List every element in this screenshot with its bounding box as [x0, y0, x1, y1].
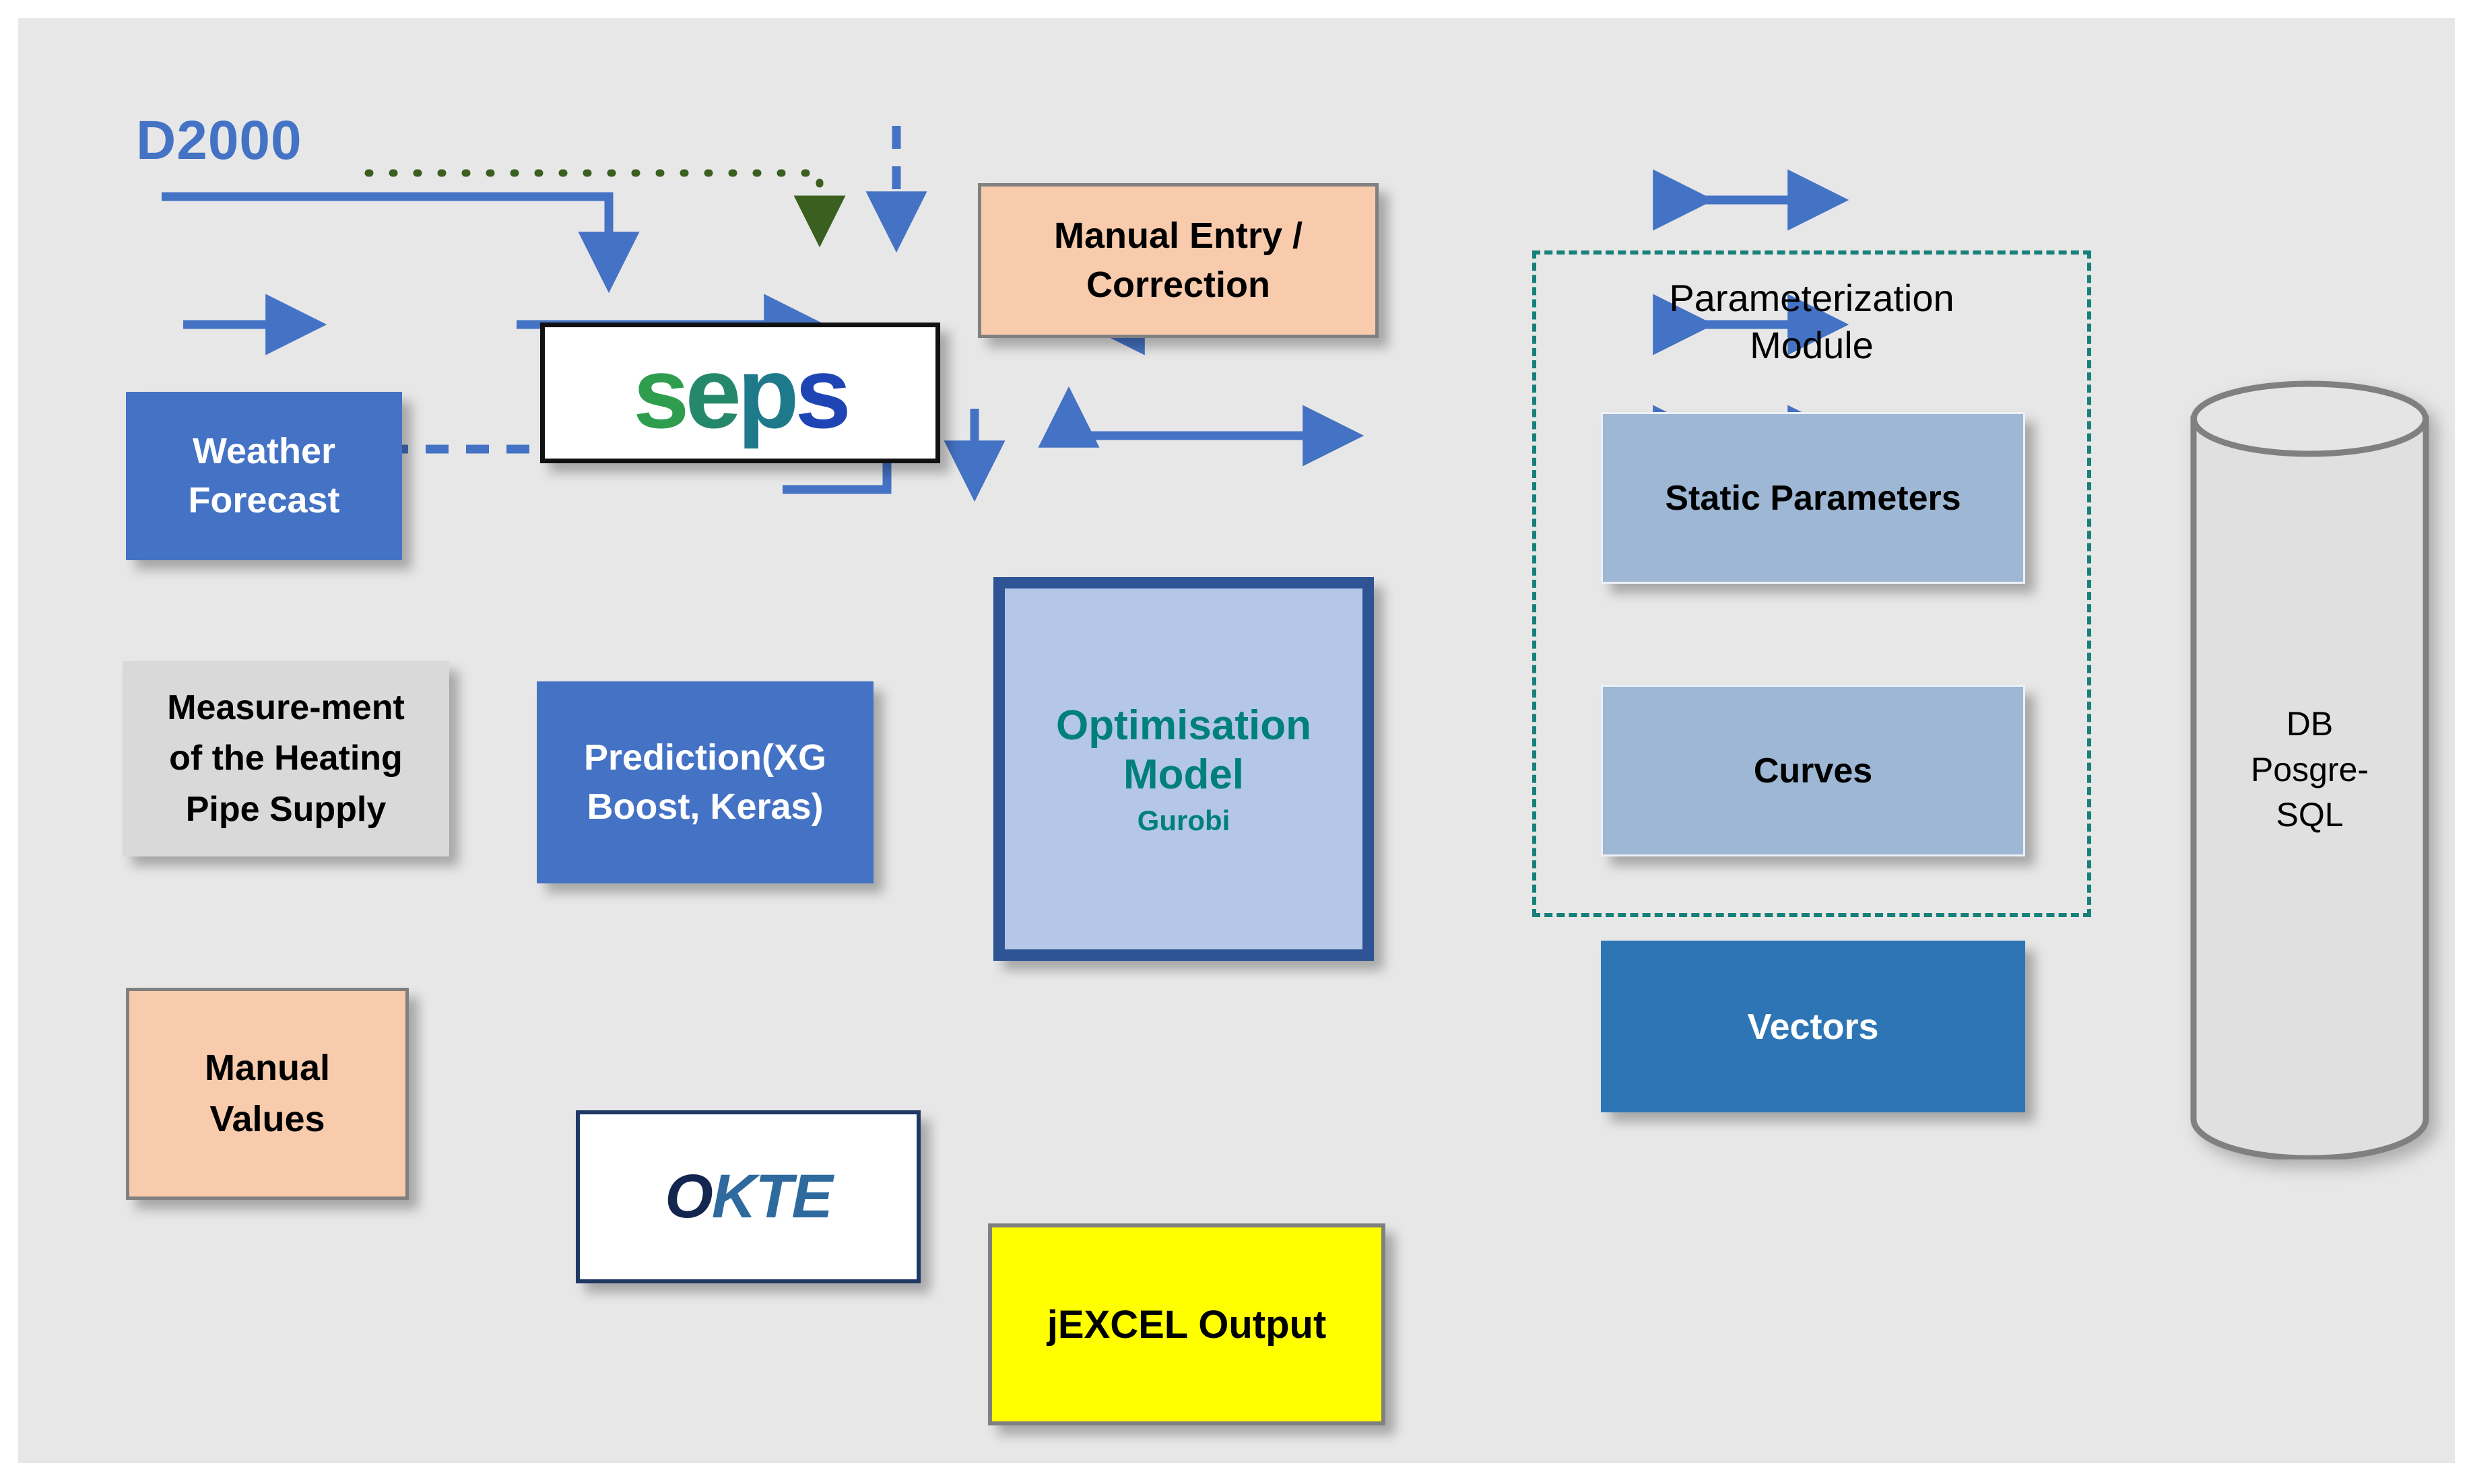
node-static-parameters-label: Static Parameters	[1665, 478, 1961, 518]
node-static-parameters[interactable]: Static Parameters	[1601, 412, 2025, 584]
node-optimisation-model-sublabel: Gurobi	[1138, 805, 1230, 837]
connector-seps-to-optimisation	[368, 173, 820, 237]
group-parameterization-module-label: Parameterization Module	[1536, 275, 2087, 369]
node-measurement-label: Measure-ment of the Heating Pipe Supply	[167, 683, 405, 835]
node-optimisation-model[interactable]: Optimisation Model Gurobi	[993, 577, 1374, 961]
node-vectors[interactable]: Vectors	[1601, 941, 2025, 1112]
node-weather-forecast-label: Weather Forecast	[188, 427, 339, 525]
okte-logo-text: OKTE	[665, 1161, 832, 1232]
okte-logo: OKTE	[576, 1110, 921, 1283]
node-prediction[interactable]: Prediction(XG Boost, Keras)	[537, 681, 874, 883]
node-manual-entry[interactable]: Manual Entry / Correction	[978, 183, 1379, 338]
diagram-canvas: D2000 seps Weather Forecast Measure-ment…	[18, 18, 2455, 1463]
node-jexcel-output[interactable]: jEXCEL Output	[988, 1223, 1385, 1425]
node-vectors-label: Vectors	[1747, 1006, 1878, 1048]
node-manual-values-label: Manual Values	[205, 1043, 330, 1145]
node-database-label: DB Posgre- SQL	[2190, 702, 2429, 838]
seps-logo-text: seps	[633, 335, 847, 451]
node-prediction-label: Prediction(XG Boost, Keras)	[584, 733, 826, 832]
seps-logo: seps	[540, 323, 940, 463]
node-measurement[interactable]: Measure-ment of the Heating Pipe Supply	[123, 661, 449, 856]
node-database[interactable]: DB Posgre- SQL	[2190, 378, 2429, 1159]
node-manual-entry-label: Manual Entry / Correction	[1054, 211, 1303, 310]
connector-weather-to-prediction	[162, 197, 609, 281]
node-curves[interactable]: Curves	[1601, 685, 2025, 856]
node-jexcel-output-label: jEXCEL Output	[1047, 1302, 1327, 1347]
node-optimisation-model-label: Optimisation Model	[1056, 701, 1311, 799]
page-title: D2000	[136, 109, 302, 172]
node-manual-values[interactable]: Manual Values	[126, 988, 409, 1200]
node-curves-label: Curves	[1754, 751, 1872, 791]
node-weather-forecast[interactable]: Weather Forecast	[126, 392, 402, 560]
